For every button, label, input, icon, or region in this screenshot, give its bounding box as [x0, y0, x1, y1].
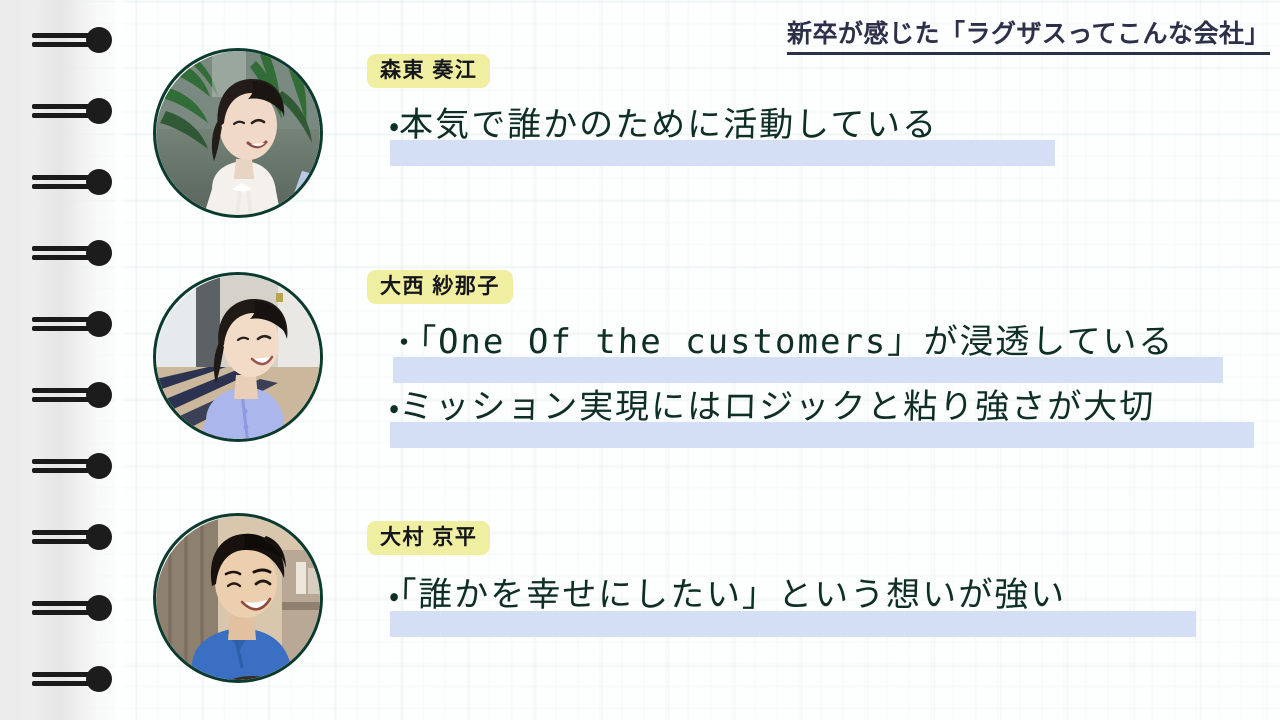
bullet-text: ・ミッション実現にはロジックと粘り強さが大切: [389, 390, 1156, 424]
bullet-text: ・「誰かを幸せにしたい」という想いが強い: [389, 578, 1067, 612]
person-name-tag: 大西 紗那子: [367, 270, 513, 304]
bullet-body: 本気で誰かのために活動している: [399, 105, 939, 145]
bullet-body: ミッション実現にはロジックと粘り強さが大切: [399, 387, 1156, 427]
avatar-photo-1: [156, 51, 320, 215]
bullet-body: 「誰かを幸せにしたい」という想いが強い: [399, 575, 1067, 615]
person-name-tag: 大村 京平: [367, 521, 490, 555]
bullet-text: ・「One Of the customers」が浸透している: [389, 325, 1175, 359]
spiral-binding: [0, 0, 130, 720]
bullet-body: 「One Of the customers」が浸透している: [418, 322, 1174, 362]
avatar-photo-2: [156, 275, 320, 439]
bullet-marker: ・: [389, 326, 420, 361]
avatar: [153, 513, 323, 683]
avatar: [153, 48, 323, 218]
slide-canvas: 新卒が感じた「ラグザスってこんな会社」: [0, 0, 1280, 720]
avatar: [153, 272, 323, 442]
avatar-photo-3: [156, 516, 320, 680]
bullet-text: ・本気で誰かのために活動している: [389, 108, 939, 142]
slide-title: 新卒が感じた「ラグザスってこんな会社」: [787, 20, 1270, 55]
person-name-tag: 森東 奏江: [367, 54, 490, 88]
